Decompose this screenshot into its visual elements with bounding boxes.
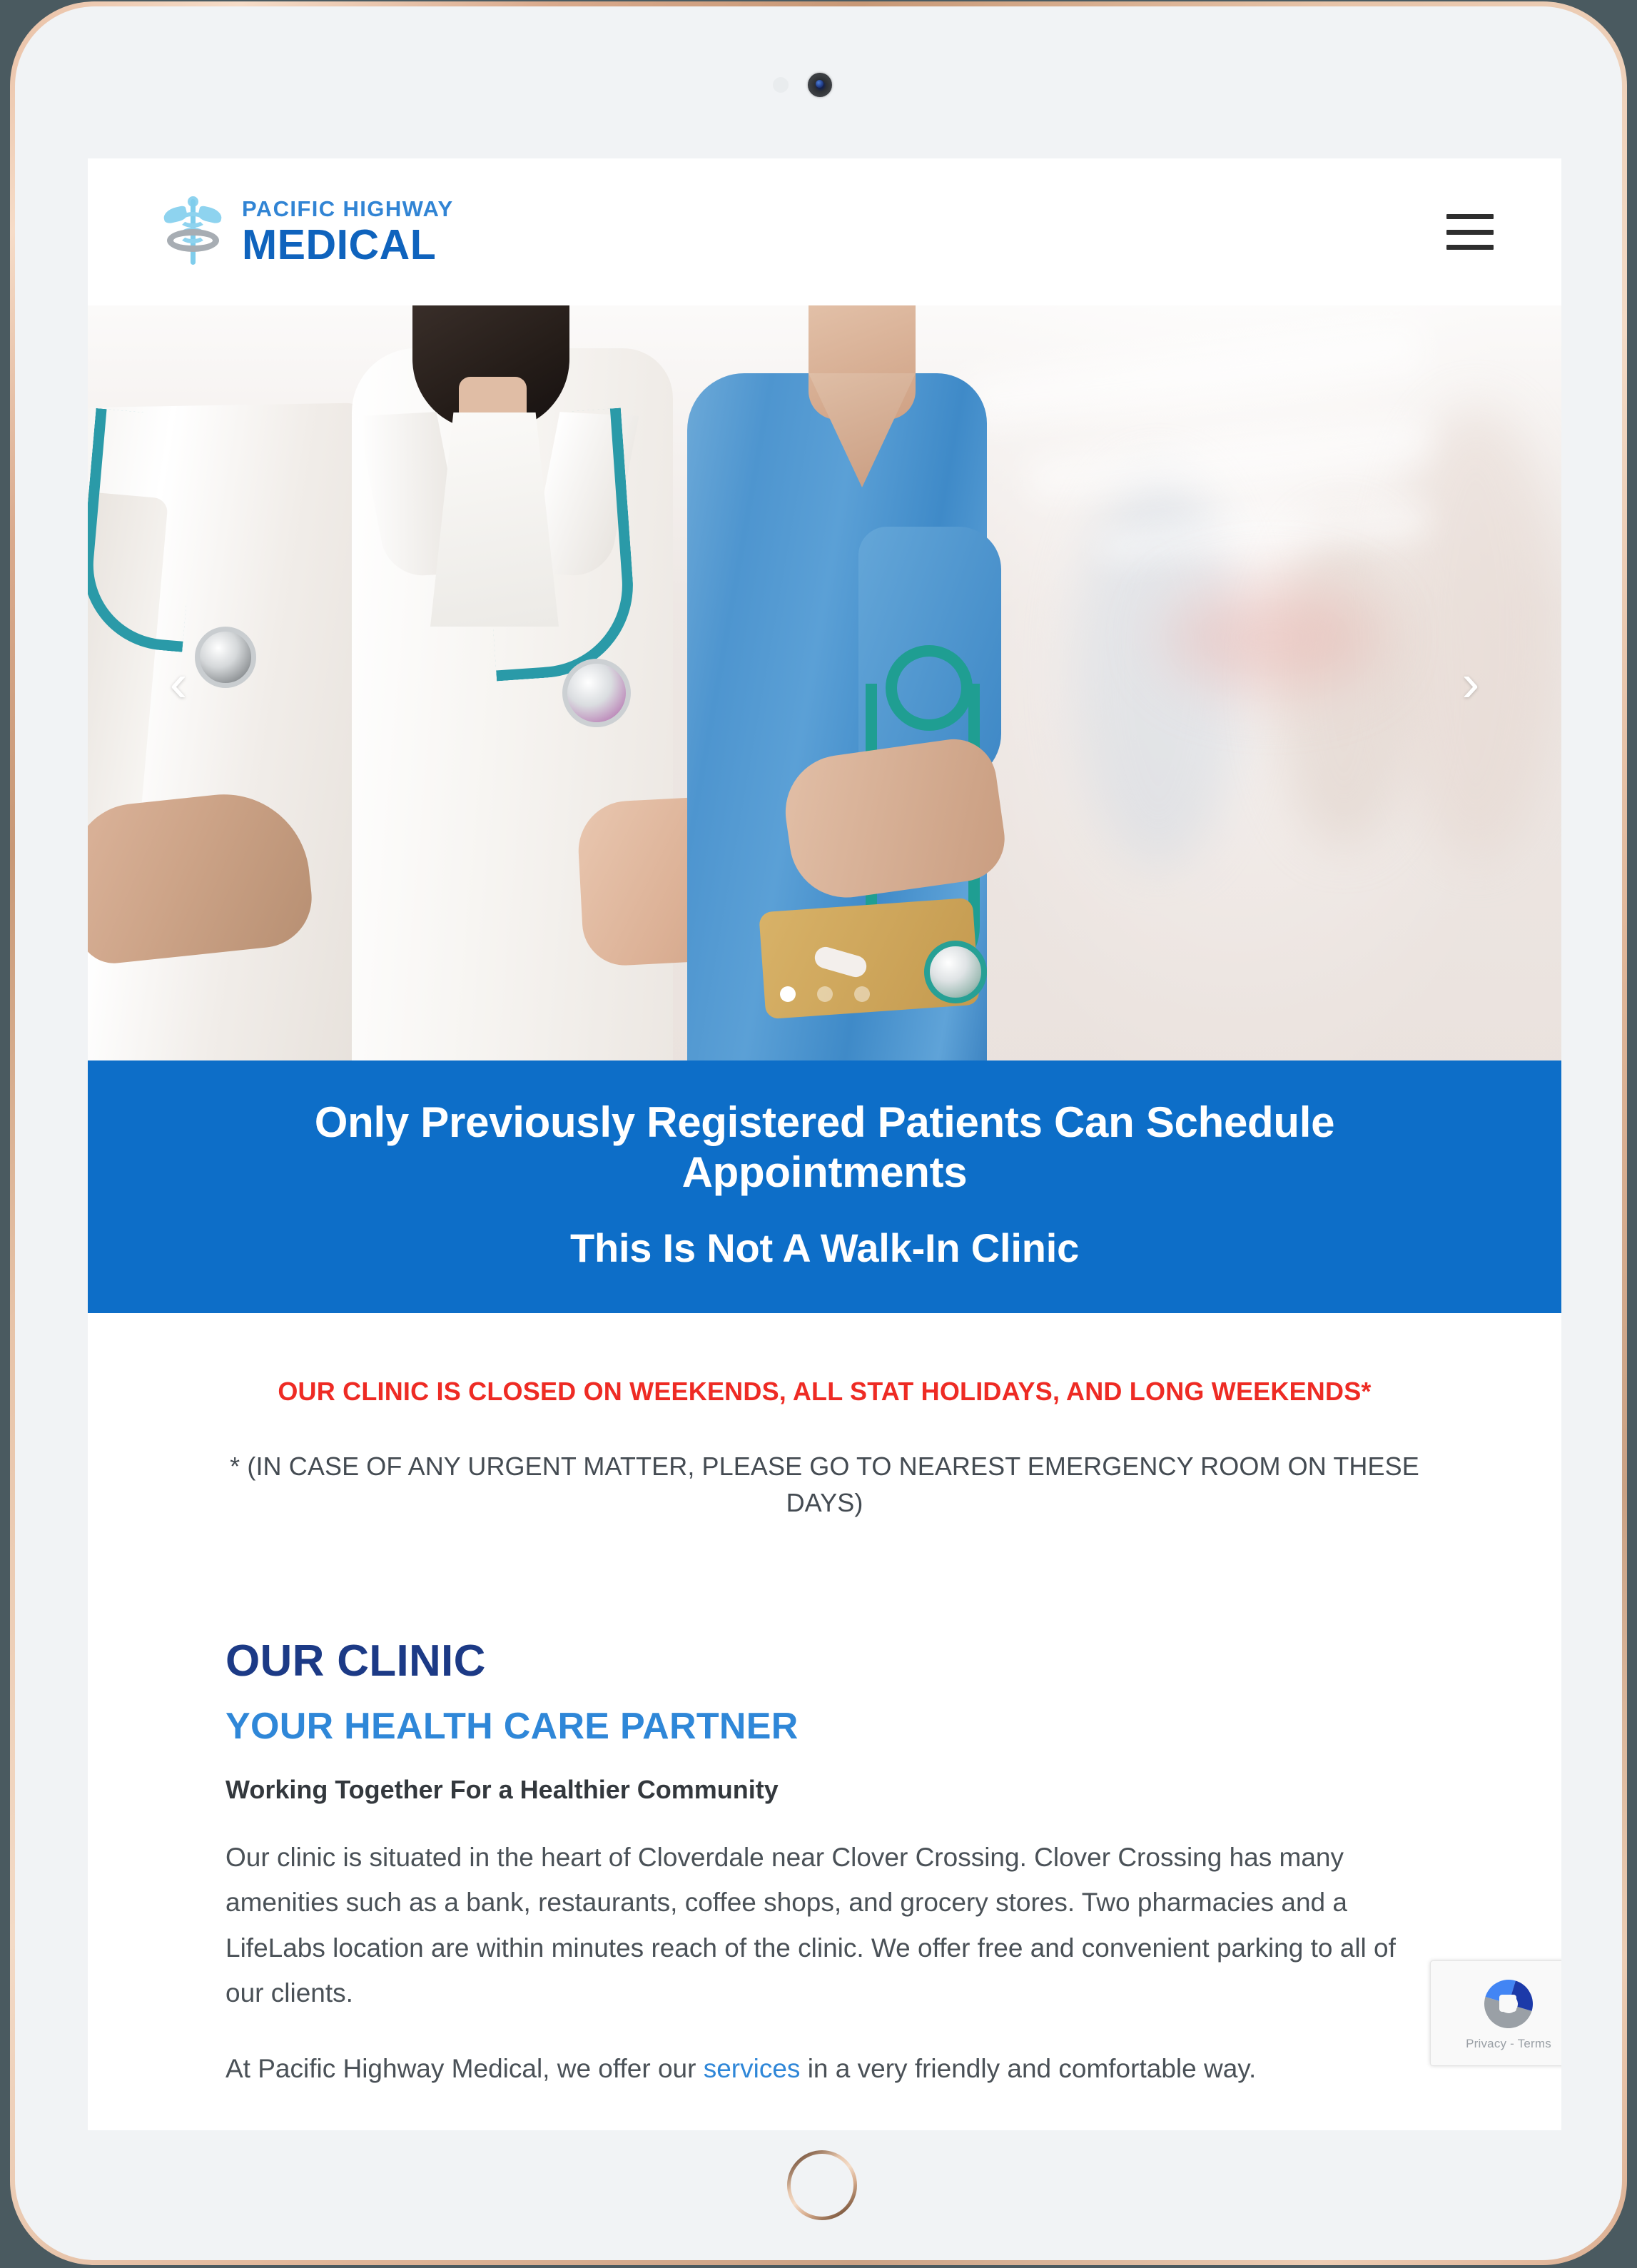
clinic-hours-alert: OUR CLINIC IS CLOSED ON WEEKENDS, ALL ST… xyxy=(88,1313,1561,1521)
recaptcha-privacy-terms[interactable]: Privacy - Terms xyxy=(1466,2037,1551,2051)
urgent-matter-note: * (IN CASE OF ANY URGENT MATTER, PLEASE … xyxy=(220,1448,1429,1521)
hero-slide-image xyxy=(88,305,1561,1060)
services-link[interactable]: services xyxy=(704,2054,801,2083)
page-title: OUR CLINIC xyxy=(225,1636,1426,1686)
brand-wordmark: PACIFIC HIGHWAY MEDICAL xyxy=(242,198,454,266)
hamburger-bar xyxy=(1446,245,1494,250)
caduceus-icon xyxy=(162,193,223,270)
home-button-icon[interactable] xyxy=(787,2150,857,2220)
chevron-right-icon[interactable]: › xyxy=(1446,658,1496,708)
browser-viewport: PACIFIC HIGHWAY MEDICAL xyxy=(88,158,1561,2130)
brand-main-line: MEDICAL xyxy=(242,224,454,266)
notice-secondary-text: This Is Not A Walk-In Clinic xyxy=(195,1224,1454,1272)
site-logo[interactable]: PACIFIC HIGHWAY MEDICAL xyxy=(162,193,454,270)
front-camera-icon xyxy=(808,73,832,97)
hero-carousel: ‹ › xyxy=(88,305,1561,1060)
brand-top-line: PACIFIC HIGHWAY xyxy=(242,198,454,220)
closed-days-notice: OUR CLINIC IS CLOSED ON WEEKENDS, ALL ST… xyxy=(220,1375,1429,1409)
hamburger-bar xyxy=(1446,214,1494,219)
chevron-left-icon[interactable]: ‹ xyxy=(153,658,203,708)
carousel-pagination xyxy=(88,986,1561,1002)
tablet-device: PACIFIC HIGHWAY MEDICAL xyxy=(10,1,1627,2265)
tablet-screen-bezel: PACIFIC HIGHWAY MEDICAL xyxy=(15,6,1622,2260)
our-clinic-section: OUR CLINIC YOUR HEALTH CARE PARTNER Work… xyxy=(88,1522,1561,2092)
hamburger-menu-icon[interactable] xyxy=(1446,214,1494,250)
site-header: PACIFIC HIGHWAY MEDICAL xyxy=(88,158,1561,305)
carousel-dot-2[interactable] xyxy=(817,986,833,1002)
carousel-dot-1[interactable] xyxy=(780,986,796,1002)
paragraph-2-after: in a very friendly and comfortable way. xyxy=(800,2054,1256,2083)
section-subheading: YOUR HEALTH CARE PARTNER xyxy=(225,1705,1426,1748)
about-paragraph-1: Our clinic is situated in the heart of C… xyxy=(225,1835,1426,2017)
section-tagline: Working Together For a Healthier Communi… xyxy=(225,1775,1426,1805)
about-paragraph-2: At Pacific Highway Medical, we offer our… xyxy=(225,2046,1426,2092)
notice-primary-text: Only Previously Registered Patients Can … xyxy=(195,1098,1454,1197)
recaptcha-icon xyxy=(1480,1975,1537,2032)
recaptcha-badge[interactable]: Privacy - Terms xyxy=(1430,1960,1561,2066)
appointment-notice-banner: Only Previously Registered Patients Can … xyxy=(88,1060,1561,1313)
ambient-light-sensor-icon xyxy=(773,77,789,93)
carousel-dot-3[interactable] xyxy=(854,986,870,1002)
hamburger-bar xyxy=(1446,230,1494,235)
paragraph-2-before: At Pacific Highway Medical, we offer our xyxy=(225,2054,704,2083)
